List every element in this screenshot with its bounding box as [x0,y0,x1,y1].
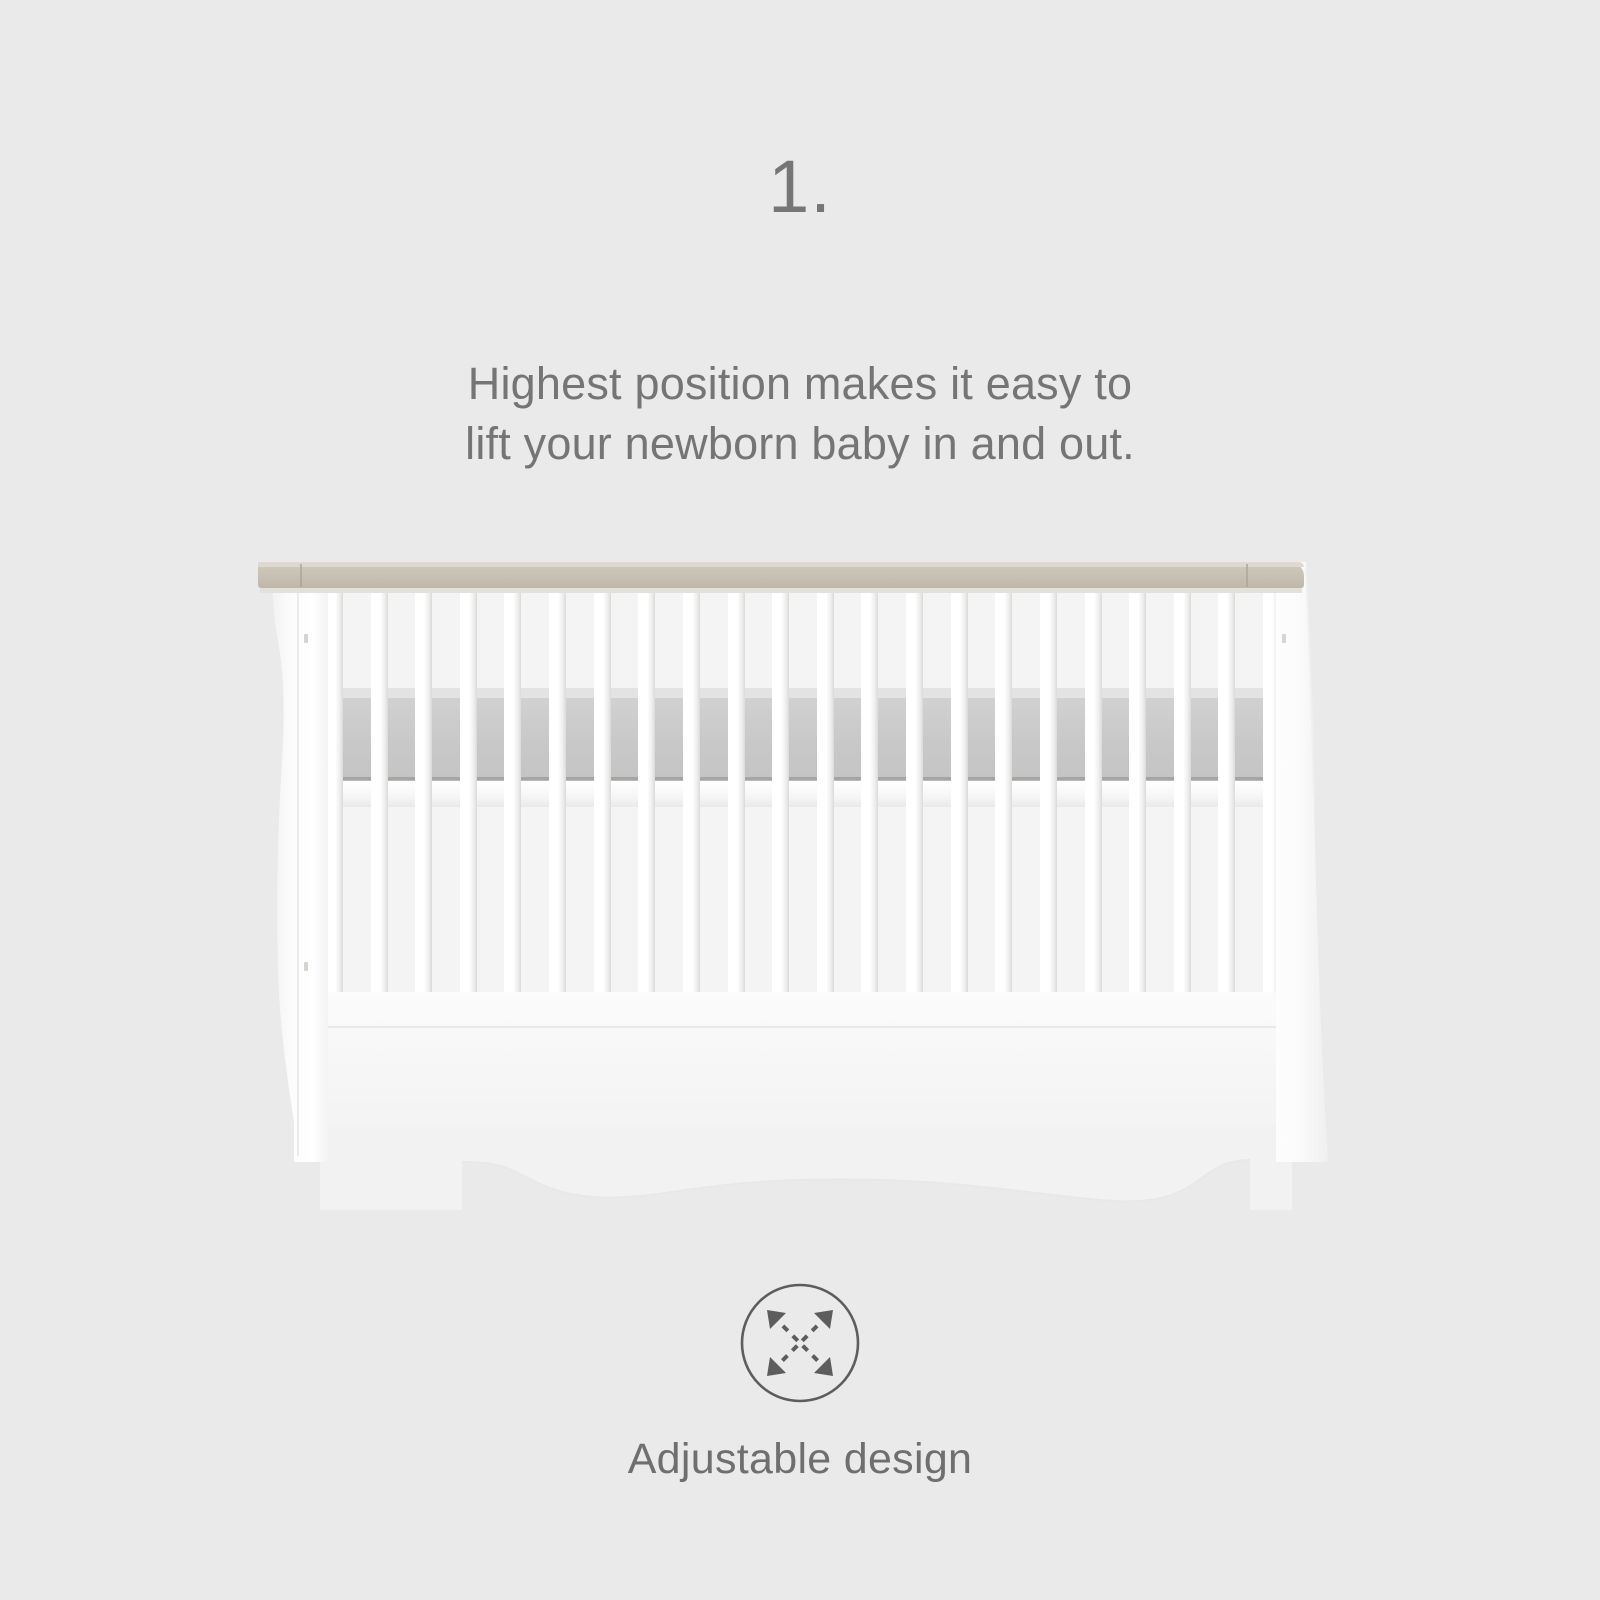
crib-slat [951,570,968,1000]
crib-slat [1174,570,1191,1000]
post-fitting-lower [304,962,308,971]
crib-slat [1129,570,1146,1000]
top-rail-highlight [258,562,1304,567]
crib-slat [460,570,477,1000]
crib-slat [728,570,745,1000]
crib-slat [1218,570,1235,1000]
crib-slat [415,570,432,1000]
caption-line-1: Highest position makes it easy to [0,354,1600,414]
crib-slat [683,570,700,1000]
crib-slat [549,570,566,1000]
crib-slat [817,570,834,1000]
left-end-post [258,562,328,1162]
product-feature-panel: 1. Highest position makes it easy to lif… [0,0,1600,1600]
crib-slat [594,570,611,1000]
crib-slat [326,570,343,1000]
feature-block: Adjustable design [0,1282,1600,1484]
post-fitting-upper [304,634,308,643]
scalloped-skirt [320,1126,1292,1210]
crib-slat [772,570,789,1000]
top-rail-seam-right [1246,564,1248,587]
crib-slat [504,570,521,1000]
cot-bed-product-image [258,548,1348,1208]
right-end-post [1276,562,1350,1162]
crib-slat [638,570,655,1000]
top-rail-undershadow [260,588,1302,593]
feature-label: Adjustable design [0,1435,1600,1484]
top-rail-seam-left [300,564,302,587]
bottom-panel-seam [320,1026,1292,1028]
caption-text: Highest position makes it easy to lift y… [0,354,1600,475]
crib-slat [371,570,388,1000]
caption-line-2: lift your newborn baby in and out. [0,414,1600,474]
post-fitting-upper-right [1282,634,1286,643]
four-way-expand-arrows-icon [739,1282,861,1404]
crib-slat [906,570,923,1000]
crib-slats [326,570,1280,1000]
crib-slat [1040,570,1057,1000]
step-number: 1. [0,150,1600,224]
crib-slat [1085,570,1102,1000]
crib-slat [995,570,1012,1000]
crib-slat [861,570,878,1000]
